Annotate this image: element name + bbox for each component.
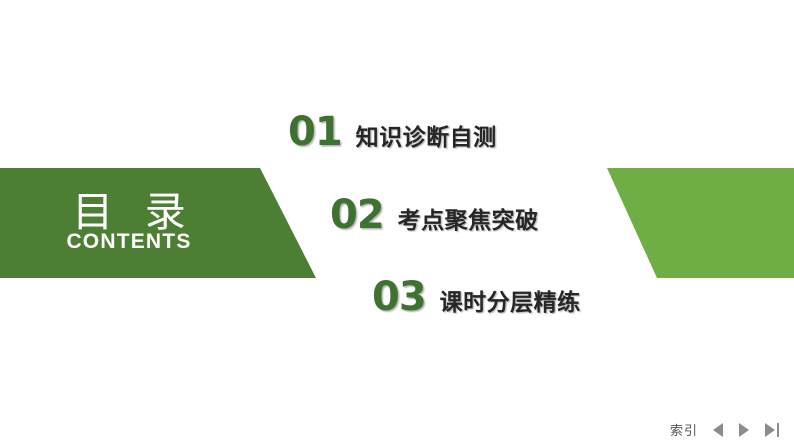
slide-canvas: 目 录 CONTENTS 01 知识诊断自测 02 考点聚焦突破 03 课时分层… [0, 0, 794, 447]
next-slide-button[interactable] [739, 421, 756, 438]
accent-trapezoid-shape [605, 168, 794, 278]
triangle-left-icon [713, 423, 723, 437]
contents-item-01[interactable]: 01 知识诊断自测 [288, 112, 497, 152]
contents-item-03[interactable]: 03 课时分层精练 [372, 277, 581, 317]
contents-title-en: CONTENTS [66, 230, 191, 254]
contents-item-02-number: 02 [330, 195, 384, 235]
contents-item-02[interactable]: 02 考点聚焦突破 [330, 195, 539, 235]
triangle-right-icon [739, 423, 749, 437]
contents-title-cn: 目 录 [62, 192, 195, 234]
last-slide-button[interactable] [765, 421, 782, 438]
contents-item-03-label: 课时分层精练 [440, 291, 581, 314]
triangle-right-bar-icon [765, 423, 775, 437]
slide-navigation-bar: 索引 [670, 420, 782, 439]
contents-banner-text-group: 目 录 CONTENTS [0, 168, 260, 278]
contents-item-03-number: 03 [372, 277, 426, 317]
contents-banner: 目 录 CONTENTS [0, 168, 318, 278]
prev-slide-button[interactable] [713, 421, 730, 438]
contents-item-02-label: 考点聚焦突破 [398, 209, 539, 232]
contents-item-01-number: 01 [288, 112, 342, 152]
index-link[interactable]: 索引 [670, 420, 698, 439]
contents-item-01-label: 知识诊断自测 [356, 126, 497, 149]
end-bar-icon [777, 423, 780, 437]
